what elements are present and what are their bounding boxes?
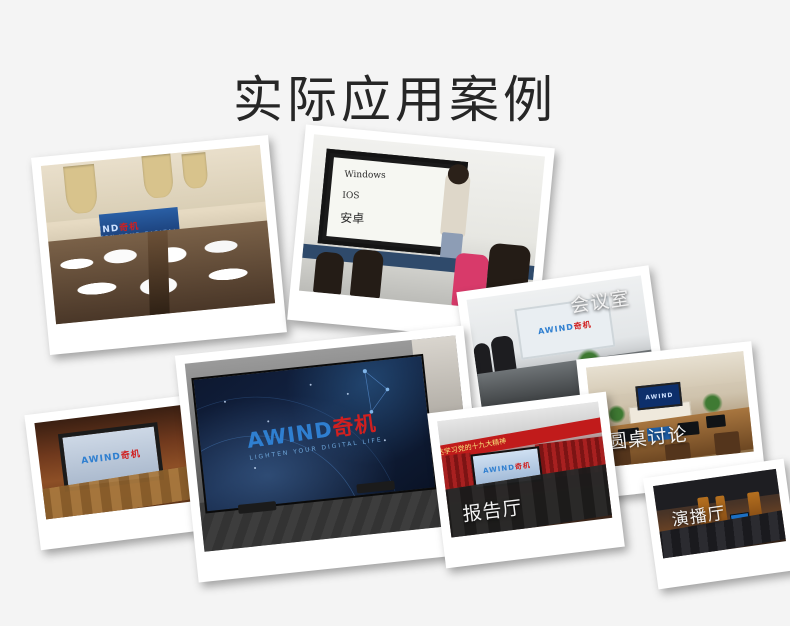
photo-image-lecture-hall: 达学习党的十九大精神 AWIND奇机 报告厅 [437, 402, 612, 538]
photo-collage: AWIND奇机 LIGHTEN YOUR DIGITAL LIFE 酒店 Win… [0, 118, 790, 618]
whiteboard-line-2: IOS [342, 191, 359, 201]
photo-card-lecture-hall[interactable]: 达学习党的十九大精神 AWIND奇机 报告厅 [427, 392, 625, 569]
photo-card-hotel[interactable]: AWIND奇机 LIGHTEN YOUR DIGITAL LIFE 酒店 [31, 135, 287, 355]
photo-image-hotel: AWIND奇机 LIGHTEN YOUR DIGITAL LIFE 酒店 [41, 145, 275, 324]
bottom-strip [0, 626, 790, 636]
page-root: 实际应用案例 AWIND奇机 LIGHTEN YOUR DIGITAL LIFE… [0, 0, 790, 636]
whiteboard-line-1: Windows [344, 169, 386, 180]
photo-image-studio: 演播厅 [653, 469, 786, 559]
large-display-panel: AWIND奇机 LIGHTEN YOUR DIGITAL LIFE [192, 354, 437, 514]
student-figure [313, 251, 345, 294]
student-figure [350, 249, 385, 299]
photo-image-banquet-hall: AWIND奇机 宴会厅 [34, 404, 203, 520]
chandelier-icon [181, 152, 208, 189]
photo-card-studio[interactable]: 演播厅 [643, 459, 790, 590]
aisle [147, 230, 169, 315]
whiteboard-line-3: 安卓 [340, 209, 364, 227]
chandelier-icon [142, 154, 175, 199]
wall-tv: AWIND [636, 382, 683, 411]
